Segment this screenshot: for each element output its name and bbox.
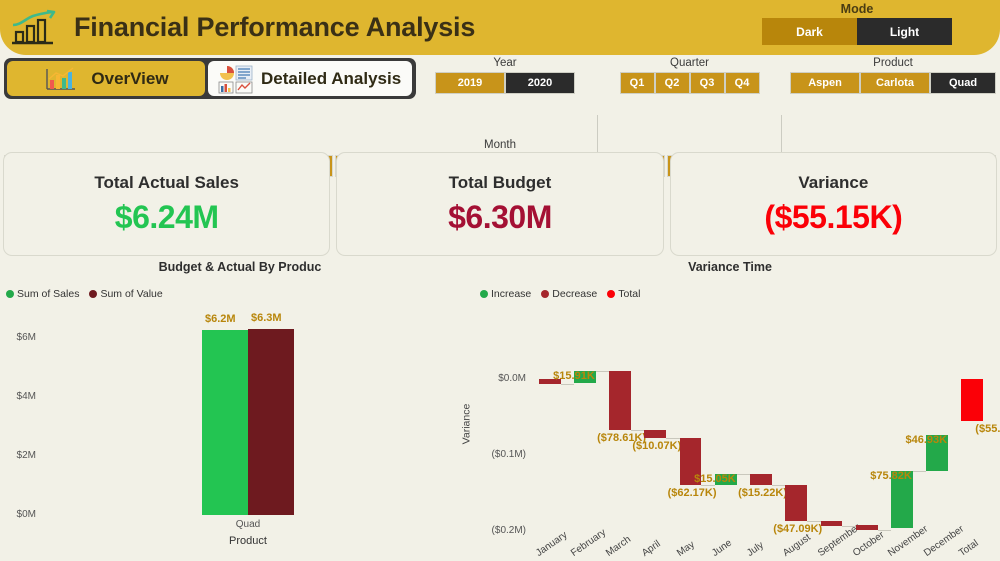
x-axis-tick: March — [604, 534, 633, 559]
dashboard-root: Financial Performance Analysis Mode Dark… — [0, 0, 1000, 561]
legend-item-sum-of-sales[interactable]: Sum of Sales — [6, 288, 79, 300]
legend-label: Increase — [491, 288, 531, 300]
waterfall-connector — [913, 471, 926, 472]
year-button-group: 2019 2020 — [435, 72, 575, 94]
mode-button-group: Dark Light — [762, 18, 952, 45]
y-axis-title: Variance — [460, 404, 472, 445]
mode-label: Mode — [841, 2, 874, 16]
legend-label: Decrease — [552, 288, 597, 300]
x-axis-tick: June — [710, 538, 734, 559]
title-bar: Financial Performance Analysis Mode Dark… — [0, 0, 1000, 55]
dashboard-pie-icon — [216, 64, 256, 94]
waterfall-connector — [701, 485, 714, 486]
x-axis-tick: January — [534, 530, 569, 559]
chart-title: Budget & Actual By Produc — [0, 258, 460, 274]
waterfall-connector — [772, 485, 785, 486]
waterfall-connector — [842, 526, 855, 527]
slicer-strip: OverView Detailed — [0, 55, 1000, 113]
quarter-option-q3[interactable]: Q3 — [690, 72, 725, 94]
waterfall-bar-march[interactable] — [609, 371, 631, 431]
kpi-title: Total Actual Sales — [94, 173, 239, 193]
bar-sum-of-sales[interactable] — [202, 330, 248, 515]
tab-detailed-analysis[interactable]: Detailed Analysis — [208, 61, 412, 96]
legend-swatch-icon — [6, 290, 14, 298]
mode-slicer: Mode Dark Light — [762, 2, 952, 45]
chart-legend: Increase Decrease Total — [460, 288, 1000, 300]
year-option-2019[interactable]: 2019 — [435, 72, 505, 94]
kpi-card-row: Total Actual Sales $6.24M Total Budget $… — [0, 152, 1000, 256]
tab-overview[interactable]: OverView — [7, 61, 205, 96]
legend-label: Sum of Value — [100, 288, 162, 300]
x-axis-tick: April — [640, 539, 663, 559]
waterfall-bar-july[interactable] — [750, 474, 772, 486]
chart-budget-actual-by-product: Budget & Actual By Produc Sum of Sales S… — [0, 258, 460, 561]
bar-sum-of-value[interactable] — [248, 329, 294, 515]
legend-swatch-icon — [89, 290, 97, 298]
mode-option-light[interactable]: Light — [857, 18, 952, 45]
waterfall-bar-april[interactable] — [644, 430, 666, 438]
y-axis-tick: $4M — [0, 391, 36, 402]
x-axis-tick: August — [781, 532, 813, 559]
x-axis-tick: May — [675, 539, 697, 559]
legend-item-total[interactable]: Total — [607, 288, 640, 300]
waterfall-bar-august[interactable] — [785, 485, 807, 521]
waterfall-value-label: $15.91K — [553, 370, 595, 382]
chart-legend: Sum of Sales Sum of Value — [0, 288, 460, 300]
kpi-card-total-budget: Total Budget $6.30M — [336, 152, 663, 256]
tab-overview-label: OverView — [91, 69, 168, 89]
bar-plot-area: $0M$2M$4M$6M$6.2M$6.3MQuadProduct — [0, 300, 460, 550]
kpi-title: Total Budget — [449, 173, 552, 193]
quarter-slicer: Quarter Q1 Q2 Q3 Q4 — [612, 55, 767, 113]
y-axis-tick: ($0.2M) — [468, 525, 526, 536]
waterfall-connector — [807, 521, 820, 522]
waterfall-value-label: ($10.07K) — [632, 440, 681, 452]
bar-chart-icon — [43, 66, 77, 92]
product-button-group: Aspen Carlota Quad — [790, 72, 996, 94]
x-axis-title: Product — [188, 535, 308, 547]
kpi-card-variance: Variance ($55.15K) — [670, 152, 997, 256]
bar-value-label: $6.3M — [251, 312, 282, 324]
x-axis-tick: Total — [957, 538, 981, 559]
waterfall-connector — [666, 438, 679, 439]
waterfall-bar-september[interactable] — [821, 521, 843, 526]
legend-item-decrease[interactable]: Decrease — [541, 288, 597, 300]
kpi-value: $6.24M — [115, 199, 219, 236]
product-slicer: Product Aspen Carlota Quad — [790, 55, 996, 113]
y-axis-tick: $6M — [0, 332, 36, 343]
waterfall-connector — [561, 384, 574, 385]
quarter-option-q2[interactable]: Q2 — [655, 72, 690, 94]
year-option-2020[interactable]: 2020 — [505, 72, 575, 94]
bar-value-label: $6.2M — [205, 313, 236, 325]
kpi-title: Variance — [798, 173, 868, 193]
waterfall-connector — [631, 430, 644, 431]
bar-chart-trend-icon — [9, 9, 57, 47]
year-slicer: Year 2019 2020 — [425, 55, 585, 113]
x-axis-tick: Quad — [208, 519, 288, 530]
waterfall-plot-area: $0.0M($0.1M)($0.2M)VarianceJanuary$15.91… — [460, 300, 1000, 550]
waterfall-bar-october[interactable] — [856, 525, 878, 530]
waterfall-value-label: $75.82K — [870, 470, 912, 482]
legend-item-increase[interactable]: Increase — [480, 288, 531, 300]
waterfall-connector — [737, 474, 750, 475]
product-option-quad[interactable]: Quad — [930, 72, 996, 94]
tab-detailed-analysis-label: Detailed Analysis — [261, 69, 401, 89]
legend-item-sum-of-value[interactable]: Sum of Value — [89, 288, 162, 300]
kpi-value: $6.30M — [448, 199, 552, 236]
kpi-card-total-actual-sales: Total Actual Sales $6.24M — [3, 152, 330, 256]
chart-title: Variance Time — [460, 258, 1000, 274]
y-axis-tick: $2M — [0, 450, 36, 461]
waterfall-value-label: ($15.22K) — [738, 487, 787, 499]
waterfall-value-label: ($47.09K) — [773, 523, 822, 535]
x-axis-tick: July — [745, 540, 766, 559]
y-axis-tick: ($0.1M) — [468, 449, 526, 460]
product-option-aspen[interactable]: Aspen — [790, 72, 860, 94]
legend-label: Total — [618, 288, 640, 300]
tab-bar: OverView Detailed — [4, 58, 416, 99]
waterfall-value-label: $15.05K — [694, 473, 736, 485]
waterfall-connector — [878, 530, 891, 531]
legend-swatch-icon — [541, 290, 549, 298]
quarter-button-group: Q1 Q2 Q3 Q4 — [620, 72, 760, 94]
product-option-carlota[interactable]: Carlota — [860, 72, 930, 94]
quarter-slicer-label: Quarter — [670, 57, 709, 69]
product-slicer-label: Product — [873, 57, 913, 69]
mode-option-dark[interactable]: Dark — [762, 18, 857, 45]
app-logo — [4, 5, 62, 51]
page-title: Financial Performance Analysis — [74, 12, 475, 43]
month-slicer-label: Month — [0, 139, 1000, 151]
kpi-value: ($55.15K) — [764, 199, 902, 236]
legend-swatch-icon — [480, 290, 488, 298]
waterfall-connector — [596, 371, 609, 372]
waterfall-value-label: $46.93K — [905, 434, 947, 446]
year-slicer-label: Year — [493, 57, 516, 69]
waterfall-bar-total[interactable] — [961, 379, 983, 421]
y-axis-tick: $0M — [0, 509, 36, 520]
quarter-option-q4[interactable]: Q4 — [725, 72, 760, 94]
waterfall-value-label: ($62.17K) — [668, 487, 717, 499]
legend-swatch-icon — [607, 290, 615, 298]
waterfall-value-label: ($55.15K) — [975, 423, 1000, 435]
x-axis-tick: February — [569, 527, 608, 559]
quarter-option-q1[interactable]: Q1 — [620, 72, 655, 94]
y-axis-tick: $0.0M — [468, 373, 526, 384]
chart-variance-time: Variance Time Increase Decrease Total $0… — [460, 258, 1000, 561]
legend-label: Sum of Sales — [17, 288, 79, 300]
